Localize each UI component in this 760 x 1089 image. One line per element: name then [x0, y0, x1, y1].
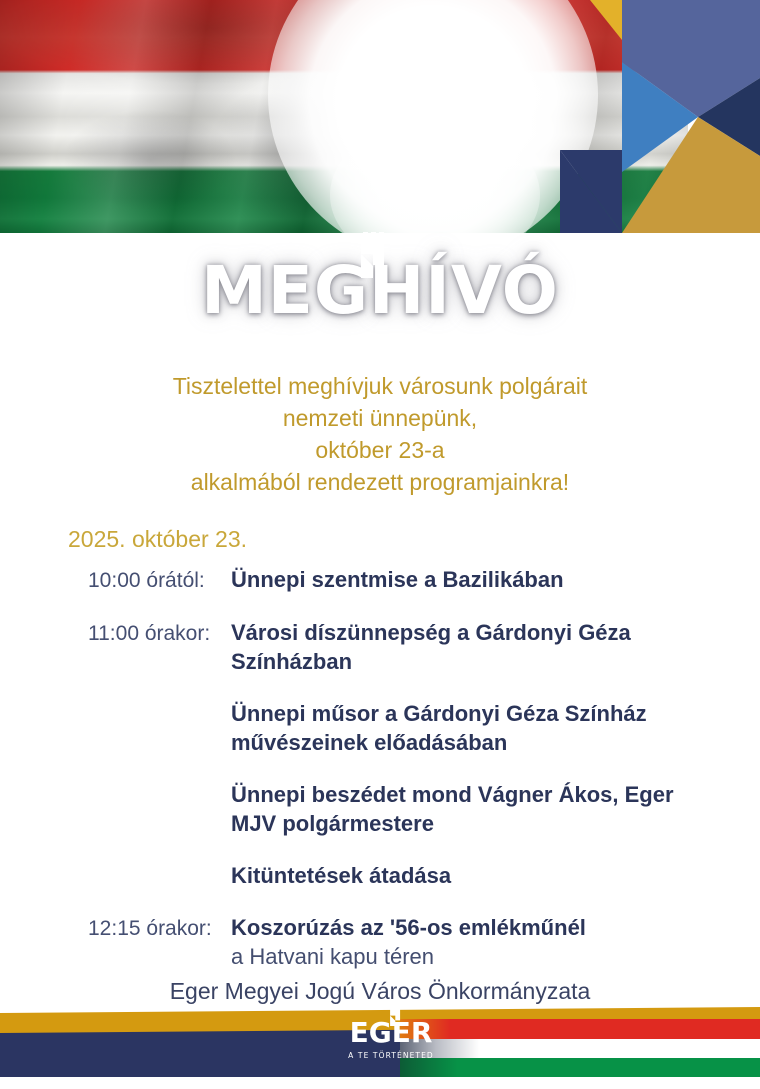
schedule-item-main: Ünnepi szentmise a Bazilikában	[231, 567, 564, 592]
header-flag-banner	[0, 0, 760, 233]
geometric-corner-decoration	[560, 0, 760, 233]
schedule-item-time	[88, 861, 231, 862]
closing-signature: Eger Megyei Jogú Város Önkormányzata	[0, 978, 760, 1005]
schedule-item: 10:00 órától: Ünnepi szentmise a Bazilik…	[88, 565, 688, 595]
invitation-poster: MEGHÍVÓ Tisztelettel meghívjuk városunk …	[0, 0, 760, 1089]
geo-shape-gold-sliver	[590, 0, 622, 40]
schedule-item-main: Kitüntetések átadása	[231, 863, 451, 888]
schedule-item: Ünnepi műsor a Gárdonyi Géza Színház műv…	[88, 699, 688, 757]
title-block: MEGHÍVÓ	[0, 258, 760, 324]
schedule-item: Kitüntetések átadása	[88, 861, 688, 890]
schedule-item-description: Kitüntetések átadása	[231, 861, 688, 890]
castle-icon	[384, 1006, 404, 1026]
schedule-item-description: Ünnepi beszédet mond Vágner Ákos, Eger M…	[231, 780, 688, 838]
castle-icon	[351, 232, 389, 278]
schedule-item-description: Ünnepi műsor a Gárdonyi Géza Színház műv…	[231, 699, 688, 757]
schedule-item-time: 11:00 órakor:	[88, 618, 231, 648]
schedule-item-description: Ünnepi szentmise a Bazilikában	[231, 565, 688, 594]
schedule-item: 12:15 órakor: Koszorúzás az '56-os emlék…	[88, 913, 688, 971]
date-heading: 2025. október 23.	[68, 526, 247, 553]
eger-logo: EGER A TE TÖRTÉNETED	[336, 1019, 446, 1060]
footer-stripe-green	[400, 1058, 760, 1077]
intro-line-3: október 23-a	[0, 434, 760, 466]
schedule-item-time	[88, 699, 231, 700]
schedule-item-description: Koszorúzás az '56-os emlékműnél a Hatvan…	[231, 913, 688, 971]
intro-line-2: nemzeti ünnepünk,	[0, 402, 760, 434]
schedule-item: Ünnepi beszédet mond Vágner Ákos, Eger M…	[88, 780, 688, 838]
schedule-item-main: Ünnepi beszédet mond Vágner Ákos, Eger M…	[231, 782, 674, 836]
schedule-item-time: 12:15 órakor:	[88, 913, 231, 943]
intro-line-1: Tisztelettel meghívjuk városunk polgárai…	[0, 370, 760, 402]
schedule-item: 11:00 órakor: Városi díszünnepség a Gárd…	[88, 618, 688, 676]
schedule-item-description: Városi díszünnepség a Gárdonyi Géza Szín…	[231, 618, 688, 676]
schedule-item-time	[88, 780, 231, 781]
schedule-item-sub: a Hatvani kapu téren	[231, 942, 688, 971]
eger-logo-tagline: A TE TÖRTÉNETED	[336, 1051, 446, 1060]
schedule-list: 10:00 órától: Ünnepi szentmise a Bazilik…	[88, 565, 688, 994]
schedule-item-main: Koszorúzás az '56-os emlékműnél	[231, 915, 586, 940]
intro-line-4: alkalmából rendezett programjainkra!	[0, 466, 760, 498]
schedule-item-time: 10:00 órától:	[88, 565, 231, 595]
footer-stripe-white	[400, 1039, 760, 1058]
intro-paragraph: Tisztelettel meghívjuk városunk polgárai…	[0, 370, 760, 498]
footer-stripe-red	[400, 1019, 760, 1039]
schedule-item-main: Városi díszünnepség a Gárdonyi Géza Szín…	[231, 620, 631, 674]
schedule-item-main: Ünnepi műsor a Gárdonyi Géza Színház műv…	[231, 701, 647, 755]
title-wrapper: MEGHÍVÓ	[201, 258, 559, 324]
